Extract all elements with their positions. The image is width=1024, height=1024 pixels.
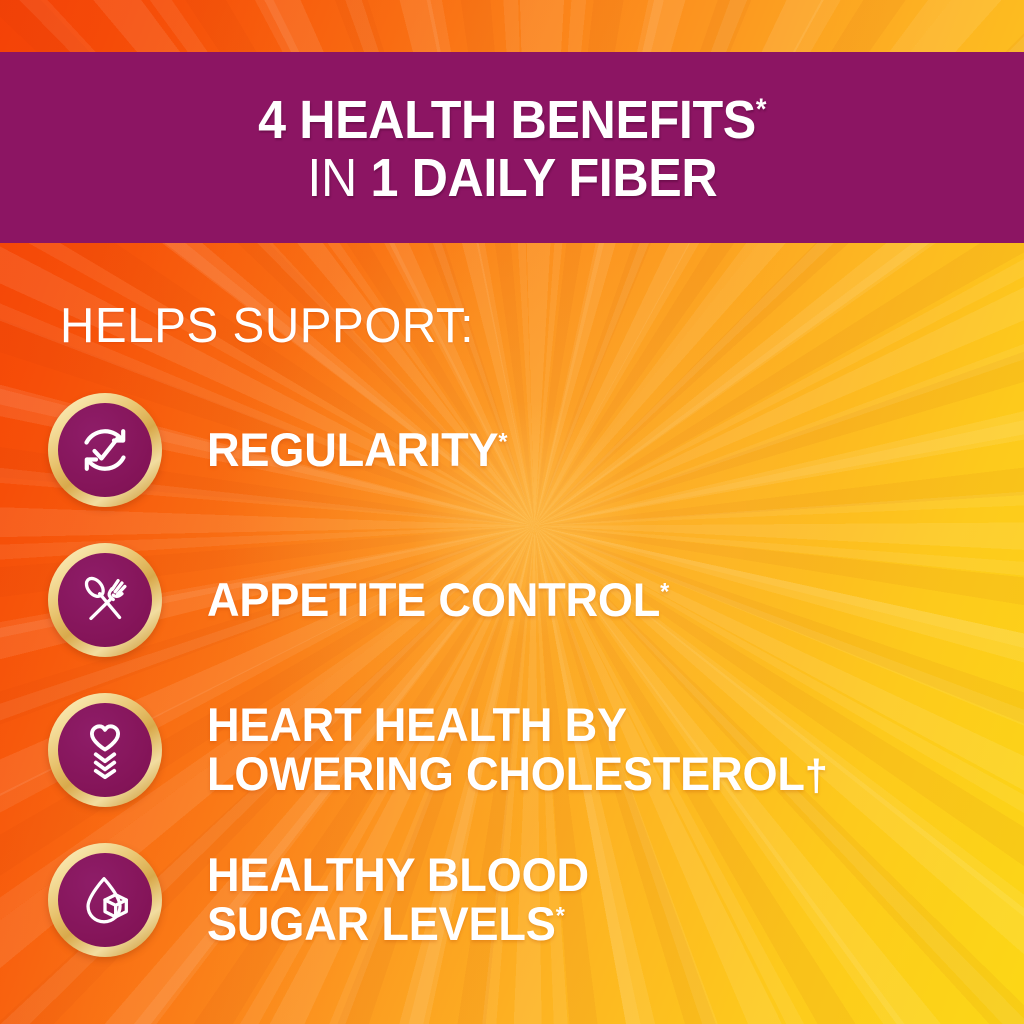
benefit-label: HEALTHY BLOOD SUGAR LEVELS* xyxy=(207,851,589,949)
benefit-label-superscript: † xyxy=(805,752,828,800)
benefit-item-appetite-control: APPETITE CONTROL* xyxy=(0,525,1024,675)
benefit-label-superscript: * xyxy=(660,578,669,605)
cycle-check-icon xyxy=(58,403,152,497)
benefit-label-line-2: LOWERING CHOLESTEROL xyxy=(207,747,805,800)
benefit-label-line-1: APPETITE CONTROL xyxy=(207,573,660,626)
product-benefits-poster: 4 HEALTH BENEFITS* IN 1 DAILY FIBER HELP… xyxy=(0,0,1024,1024)
benefit-label-line-2-wrap: SUGAR LEVELS* xyxy=(207,900,589,949)
benefit-label: APPETITE CONTROL* xyxy=(207,576,669,625)
benefit-badge xyxy=(48,843,162,957)
benefit-item-regularity: REGULARITY* xyxy=(0,375,1024,525)
header-banner: 4 HEALTH BENEFITS* IN 1 DAILY FIBER xyxy=(0,52,1024,243)
droplet-sugar-cube-icon xyxy=(58,853,152,947)
benefit-label-superscript: * xyxy=(556,902,565,929)
benefit-badge xyxy=(48,693,162,807)
benefit-label: REGULARITY* xyxy=(207,426,507,475)
benefit-label-line-1: HEALTHY BLOOD xyxy=(207,848,589,901)
banner-title-line-1: 4 HEALTH BENEFITS* xyxy=(258,93,766,148)
banner-title-line-2: IN 1 DAILY FIBER xyxy=(307,151,717,206)
banner-subtitle-emphasis: 1 DAILY FIBER xyxy=(370,148,717,208)
banner-title-text: 4 HEALTH BENEFITS xyxy=(258,90,756,150)
benefit-badge xyxy=(48,393,162,507)
helps-support-heading: HELPS SUPPORT: xyxy=(60,298,474,354)
benefits-list: REGULARITY* xyxy=(0,375,1024,975)
benefit-label-superscript: * xyxy=(498,428,507,455)
benefit-label-line-1: REGULARITY xyxy=(207,423,498,476)
benefit-item-heart-health: HEART HEALTH BY LOWERING CHOLESTEROL† xyxy=(0,675,1024,825)
benefit-label-line-2-wrap: LOWERING CHOLESTEROL† xyxy=(207,750,828,799)
fork-spoon-icon xyxy=(58,553,152,647)
benefit-label: HEART HEALTH BY LOWERING CHOLESTEROL† xyxy=(207,701,828,799)
benefit-label-line-2: SUGAR LEVELS xyxy=(207,897,556,950)
benefit-label-line-1: HEART HEALTH BY xyxy=(207,698,627,751)
banner-subtitle-prefix: IN xyxy=(307,148,370,208)
heart-down-arrows-icon xyxy=(58,703,152,797)
benefit-item-blood-sugar: HEALTHY BLOOD SUGAR LEVELS* xyxy=(0,825,1024,975)
banner-title-asterisk: * xyxy=(756,94,766,126)
benefit-badge xyxy=(48,543,162,657)
